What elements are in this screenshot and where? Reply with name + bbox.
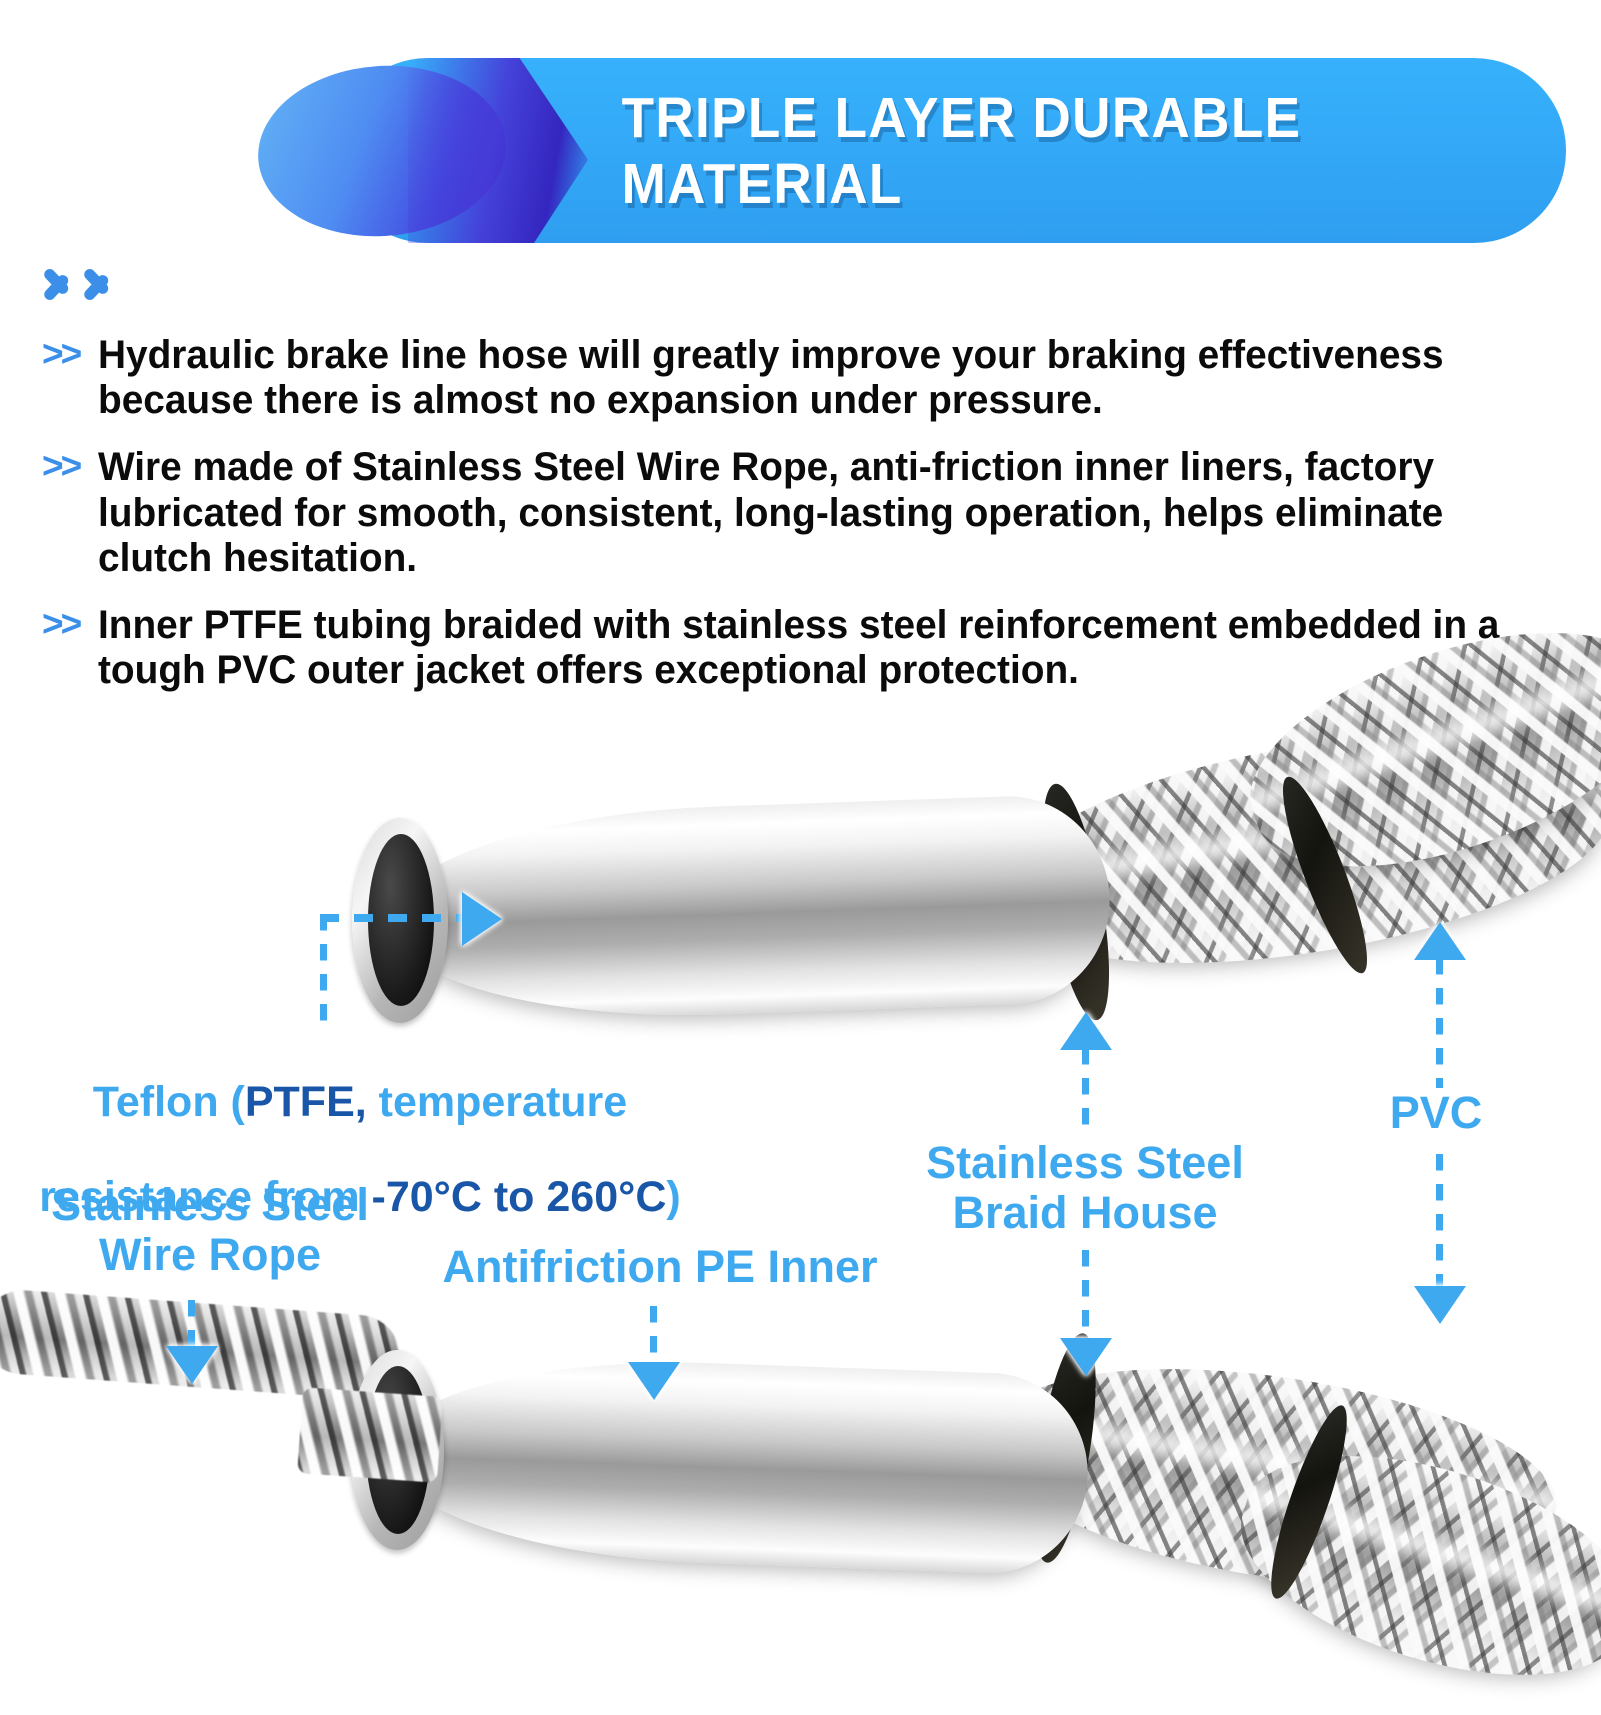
bullet-item: >> Inner PTFE tubing braided with stainl…	[42, 603, 1562, 693]
braid-house-leader-upper	[1082, 1048, 1089, 1136]
braid-house-arrow-down-icon	[1060, 1338, 1112, 1376]
feature-bullet-list: >> Hydraulic brake line hose will greatl…	[42, 333, 1562, 715]
pvc-arrow-up-icon	[1414, 922, 1466, 960]
stainless-steel-wire-rope	[0, 1287, 403, 1402]
braid-house-leader-lower	[1082, 1250, 1089, 1342]
bullet-marker: >>	[42, 603, 98, 644]
wire-rope-leader	[188, 1300, 195, 1352]
wire-rope-arrow-icon	[166, 1346, 218, 1384]
callout-pe-inner: Antifriction PE Inner	[430, 1242, 890, 1292]
teflon-leader-horizontal	[320, 914, 470, 922]
bullet-marker: >>	[42, 445, 98, 486]
wire-rope-inside-tube	[297, 1387, 443, 1483]
pe-inner-leader	[650, 1306, 657, 1368]
callout-wire-rope: Stainless Steel Wire Rope	[20, 1180, 400, 1279]
pe-inner-arrow-icon	[628, 1362, 680, 1400]
header-banner: TRIPLE LAYER DURABLE MATERIAL	[258, 58, 1566, 243]
banner-title: TRIPLE LAYER DURABLE MATERIAL	[622, 58, 1515, 243]
teflon-leader-vertical	[320, 914, 327, 1030]
chevron-right-icon	[42, 252, 76, 314]
braid-house-arrow-up-icon	[1060, 1012, 1112, 1050]
pvc-leader-lower	[1436, 1154, 1443, 1290]
bullet-marker: >>	[42, 333, 98, 374]
bullet-text: Inner PTFE tubing braided with stainless…	[98, 603, 1518, 693]
bullet-text: Wire made of Stainless Steel Wire Rope, …	[98, 445, 1518, 581]
pvc-leader-upper	[1436, 958, 1443, 1088]
bullet-item: >> Hydraulic brake line hose will greatl…	[42, 333, 1562, 423]
product-cutaway-illustration: Teflon (PTFE, temperature resistance fro…	[0, 740, 1601, 1601]
chevron-right-icon	[82, 252, 116, 314]
bullet-item: >> Wire made of Stainless Steel Wire Rop…	[42, 445, 1562, 581]
double-chevron-right-icon	[42, 252, 152, 314]
bullet-text: Hydraulic brake line hose will greatly i…	[98, 333, 1518, 423]
pvc-arrow-down-icon	[1414, 1286, 1466, 1324]
callout-braid-house: Stainless Steel Braid House	[880, 1138, 1290, 1237]
pe-inner-tube-body	[385, 1352, 1092, 1576]
callout-teflon-line1: Teflon (PTFE, temperature	[93, 1078, 627, 1126]
callout-pvc: PVC	[1336, 1088, 1536, 1138]
teflon-arrow-icon	[462, 892, 502, 946]
